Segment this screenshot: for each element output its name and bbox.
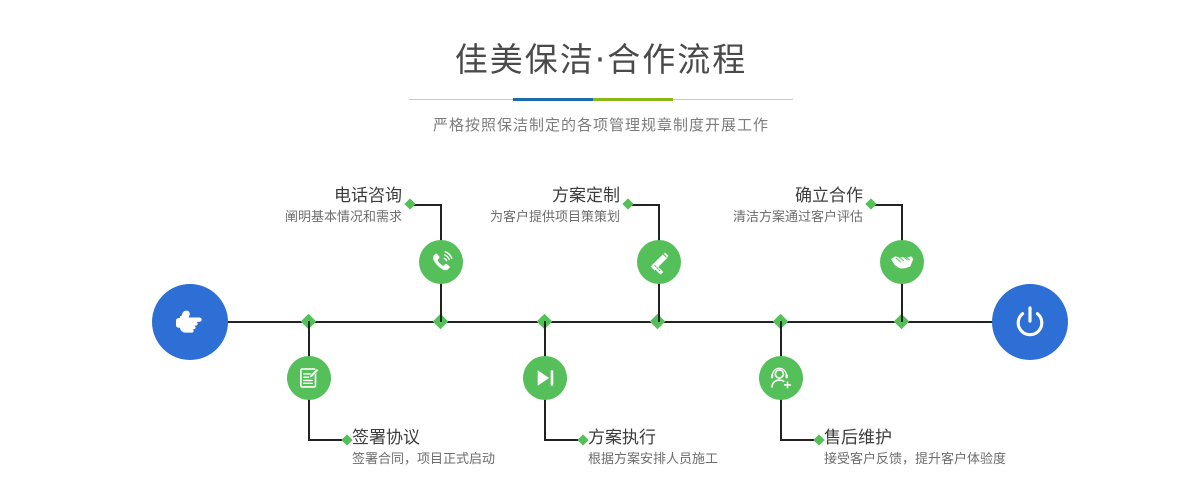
step-label-3: 方案定制 为客户提供项目策策划 <box>414 186 620 227</box>
step-title-2: 签署协议 <box>352 428 612 448</box>
step-label-2: 签署协议 签署合同，项目正式启动 <box>352 428 612 469</box>
start-endpoint[interactable] <box>152 284 228 360</box>
step-icon-4[interactable] <box>523 356 567 400</box>
step-desc-6: 接受客户反馈，提升客户体验度 <box>824 451 1104 469</box>
divider-accent-green <box>593 98 673 101</box>
step-desc-3: 为客户提供项目策策划 <box>414 209 620 227</box>
label-marker-step3 <box>622 198 633 209</box>
label-marker-step2 <box>341 434 352 445</box>
step-label-6: 售后维护 接受客户反馈，提升客户体验度 <box>824 428 1104 469</box>
play-to-end-icon <box>532 365 558 391</box>
step-desc-5: 清洁方案通过客户评估 <box>660 209 863 227</box>
handshake-icon <box>889 249 915 275</box>
page-title: 佳美保洁·合作流程 <box>0 40 1202 80</box>
title-divider <box>409 98 793 101</box>
step-icon-2[interactable] <box>287 356 331 400</box>
step-desc-4: 根据方案安排人员施工 <box>588 451 848 469</box>
header: 佳美保洁·合作流程 严格按照保洁制定的各项管理规章制度开展工作 <box>0 0 1202 135</box>
infographic-canvas: 佳美保洁·合作流程 严格按照保洁制定的各项管理规章制度开展工作 <box>0 0 1202 502</box>
connector-h-step3 <box>629 204 659 206</box>
document-edit-icon <box>296 365 322 391</box>
step-icon-3[interactable] <box>637 240 681 284</box>
step-icon-6[interactable] <box>759 356 803 400</box>
end-endpoint[interactable] <box>992 284 1068 360</box>
power-icon <box>1009 301 1051 343</box>
step-icon-1[interactable] <box>419 240 463 284</box>
step-desc-2: 签署合同，项目正式启动 <box>352 451 612 469</box>
customer-support-icon <box>768 365 794 391</box>
phone-call-icon <box>428 249 454 275</box>
pointing-hand-icon <box>169 301 211 343</box>
step-title-1: 电话咨询 <box>196 186 402 206</box>
step-title-3: 方案定制 <box>414 186 620 206</box>
step-label-5: 确立合作 清洁方案通过客户评估 <box>660 186 863 227</box>
step-title-6: 售后维护 <box>824 428 1104 448</box>
step-desc-1: 阐明基本情况和需求 <box>196 209 402 227</box>
step-title-5: 确立合作 <box>660 186 863 206</box>
step-label-4: 方案执行 根据方案安排人员施工 <box>588 428 848 469</box>
step-icon-5[interactable] <box>880 240 924 284</box>
divider-accent-blue <box>513 98 593 101</box>
connector-h-step5 <box>872 204 902 206</box>
step-label-1: 电话咨询 阐明基本情况和需求 <box>196 186 402 227</box>
pencil-ruler-icon <box>646 249 672 275</box>
step-title-4: 方案执行 <box>588 428 848 448</box>
label-marker-step5 <box>865 198 876 209</box>
page-subtitle: 严格按照保洁制定的各项管理规章制度开展工作 <box>0 114 1202 135</box>
